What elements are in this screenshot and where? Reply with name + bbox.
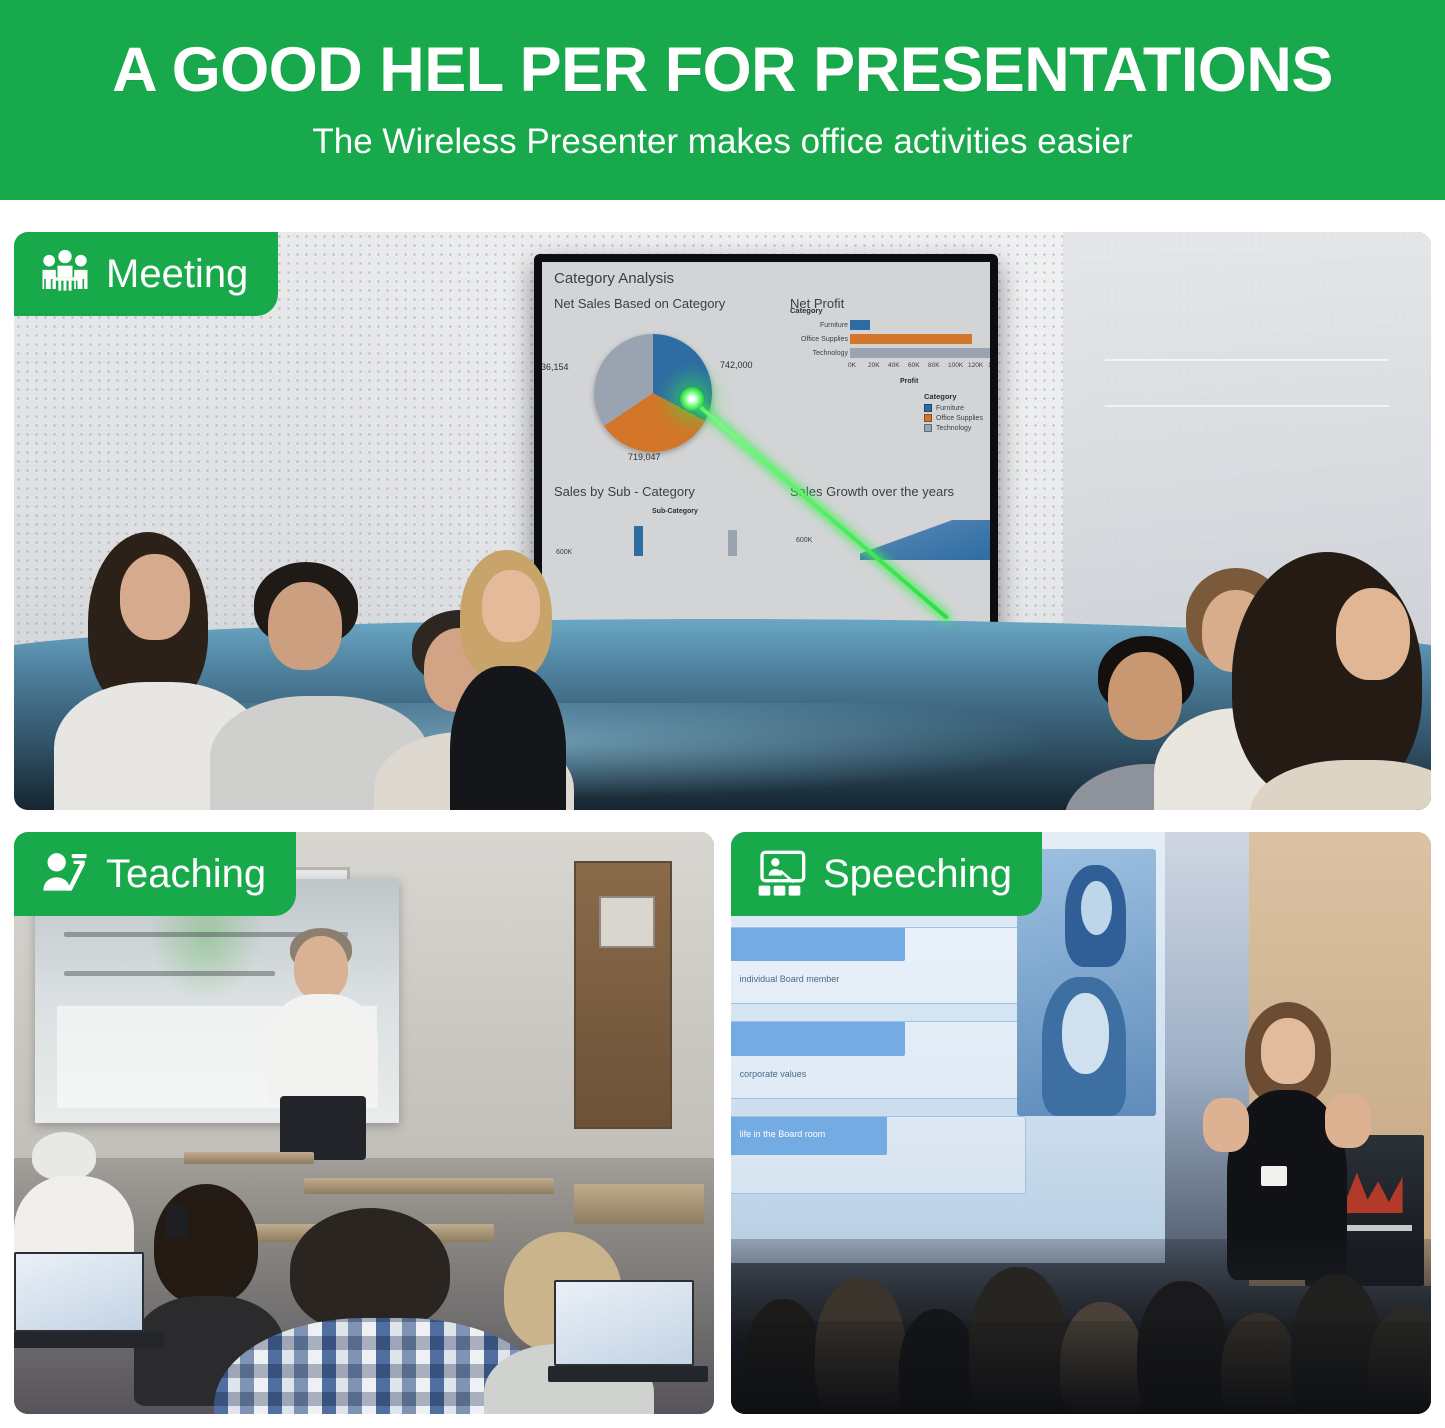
student-laptop-1[interactable] [14,1252,164,1362]
legend-title: Category [924,392,983,401]
badge-label-meeting: Meeting [106,254,248,294]
growth-area [860,520,990,560]
bar-office-supplies [850,334,972,344]
page-title: A GOOD HEL PER FOR PRESENTATIONS [112,39,1333,102]
instructor-trousers [280,1096,366,1160]
legend-swatch-technology [924,424,932,432]
slide-bullet-line [64,971,275,976]
people-at-table-icon [38,249,92,299]
badge-speeching: Speeching [731,832,1042,916]
slide-box [731,1116,1026,1194]
panel-speeching: the minds individual Board member corpor… [731,832,1431,1414]
x-tick: 100K [948,362,963,369]
slide-text-3: corporate values [740,1069,807,1079]
x-tick: 140K [988,362,990,369]
bar-chart-net-profit: Category Furniture Office Supplies Techn… [790,318,986,386]
laser-dot [679,386,705,412]
coffee-cup [166,1204,188,1238]
subcat-bar-chairs [634,526,643,556]
slide-box [731,1021,1026,1099]
legend-label-furniture: Furniture [936,405,964,412]
legend-item: Technology [924,424,983,432]
chart-title-sub-category: Sales by Sub - Category [554,484,695,499]
legend-label-technology: Technology [936,425,971,432]
speaker-name-badge [1261,1166,1287,1186]
x-tick: 80K [928,362,940,369]
page-subtitle: The Wireless Presenter makes office acti… [312,122,1132,162]
badge-label-speeching: Speeching [823,854,1012,894]
slide-text-2: individual Board member [740,974,840,984]
panel-teaching: Teaching [14,832,714,1414]
panel-meeting: Category Analysis Net Sales Based on Cat… [14,232,1431,810]
slide-box [731,927,1026,1005]
audience-front-row [731,1321,1431,1414]
area-chart-growth: 600K [790,508,990,560]
sub-category-axis-title: Sub-Category [652,508,698,515]
speaker-hand-left [1203,1098,1249,1152]
door-sign [599,896,655,948]
header-banner: A GOOD HEL PER FOR PRESENTATIONS The Wir… [0,0,1445,200]
badge-meeting: Meeting [14,232,278,316]
chart-title-net-sales: Net Sales Based on Category [554,296,725,311]
slide-text-4: life in the Board room [740,1129,826,1139]
net-profit-x-axis: 0K 20K 40K 60K 80K 100K 120K 140K Profit [848,362,988,378]
student-laptop-2[interactable] [554,1280,704,1390]
bar-furniture [850,320,870,330]
attendee-right-3 [1210,552,1431,810]
legend-swatch-furniture [924,404,932,412]
x-tick: 120K [968,362,983,369]
badge-label-teaching: Teaching [106,854,266,894]
chart-legend: Category Furniture Office Supplies Techn… [924,392,983,434]
classroom-desk [304,1178,554,1194]
meeting-photo: Category Analysis Net Sales Based on Cat… [14,232,1431,810]
badge-teaching: Teaching [14,832,296,916]
growth-y-label: 600K [796,537,812,544]
chart-title-growth: Sales Growth over the years [790,484,954,499]
subcat-bar-phones [728,530,737,556]
classroom-desk [574,1184,704,1224]
x-tick: 40K [888,362,900,369]
speaker [1209,1002,1369,1272]
presenter-at-board-icon [755,849,809,899]
speaker-hand-right [1325,1094,1371,1148]
bar-technology [850,348,990,358]
instructor [262,928,382,1158]
pie-label-technology: 836,154 [542,362,569,372]
presenter-standing [446,550,576,810]
legend-label-office-supplies: Office Supplies [936,415,983,422]
speeching-photo: the minds individual Board member corpor… [731,832,1431,1414]
wall-trim-line [1105,359,1388,361]
bar-label-technology: Technology [813,348,848,359]
wall-trim-line [1105,405,1388,407]
bar-label-office-supplies: Office Supplies [801,334,848,345]
net-profit-x-label: Profit [900,378,918,385]
teaching-photo [14,832,714,1414]
x-tick: 0K [848,362,856,369]
bar-chart-sub-category: 600K Sub-Category [556,508,766,560]
legend-item: Office Supplies [924,414,983,422]
net-profit-axis-title: Category [790,306,823,315]
product-infographic: A GOOD HEL PER FOR PRESENTATIONS The Wir… [0,0,1445,1428]
classroom-desk [184,1152,314,1164]
pie-label-office-supplies: 719,047 [628,452,661,462]
person-with-pointer-icon [38,849,92,899]
pie-label-furniture: 742,000 [720,360,753,370]
dashboard-title: Category Analysis [554,270,674,287]
legend-item: Furniture [924,404,983,412]
x-tick: 60K [908,362,920,369]
x-tick: 20K [868,362,880,369]
bar-label-furniture: Furniture [820,320,848,331]
legend-swatch-office-supplies [924,414,932,422]
